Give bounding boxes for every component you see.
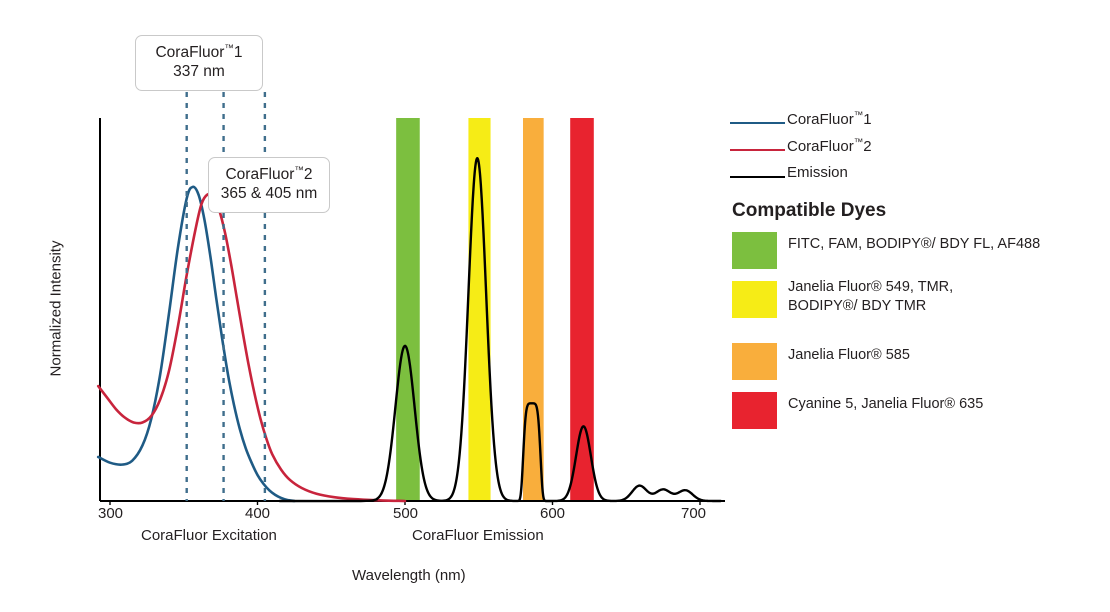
dye-label: Cyanine 5, Janelia Fluor® 635 bbox=[788, 395, 983, 414]
legend-line-swatch bbox=[730, 176, 785, 178]
legend-series-row: CoraFluor™1 bbox=[730, 110, 1090, 137]
legend-line-swatch bbox=[730, 149, 785, 151]
dye-label: FITC, FAM, BODIPY®/ BDY FL, AF488 bbox=[788, 235, 1040, 254]
dye-label: Janelia Fluor® 585 bbox=[788, 346, 910, 365]
excitation-section-label: CoraFluor Excitation bbox=[141, 527, 277, 544]
emission-section-label: CoraFluor Emission bbox=[412, 527, 544, 544]
curve-emission bbox=[280, 158, 721, 501]
compatible-dyes-title: Compatible Dyes bbox=[732, 200, 886, 222]
corafluor2-callout-line2: 365 & 405 nm bbox=[219, 185, 319, 204]
x-tick-600: 600 bbox=[540, 505, 565, 522]
corafluor1-callout-line2: 337 nm bbox=[146, 63, 252, 82]
x-axis-label: Wavelength (nm) bbox=[352, 567, 466, 584]
legend-series-label: CoraFluor™1 bbox=[787, 110, 872, 128]
series-legend: CoraFluor™1CoraFluor™2Emission bbox=[730, 110, 1090, 191]
dye-color-swatch bbox=[732, 343, 777, 380]
dye-color-swatch bbox=[732, 232, 777, 269]
dye-row: Janelia Fluor® 585 bbox=[730, 343, 1110, 392]
dye-row: FITC, FAM, BODIPY®/ BDY FL, AF488 bbox=[730, 232, 1110, 281]
legend-line-swatch bbox=[730, 122, 785, 124]
x-tick-700: 700 bbox=[681, 505, 706, 522]
corafluor2-callout: CoraFluor™2 365 & 405 nm bbox=[208, 157, 330, 213]
dye-row: Janelia Fluor® 549, TMR, BODIPY®/ BDY TM… bbox=[730, 281, 1110, 343]
compatible-dyes-list: FITC, FAM, BODIPY®/ BDY FL, AF488Janelia… bbox=[730, 232, 1110, 441]
dye-row: Cyanine 5, Janelia Fluor® 635 bbox=[730, 392, 1110, 441]
x-tick-300: 300 bbox=[98, 505, 123, 522]
dye-label: Janelia Fluor® 549, TMR, BODIPY®/ BDY TM… bbox=[788, 278, 953, 316]
y-axis-label: Normalized Intensity bbox=[47, 241, 64, 377]
legend-series-label: CoraFluor™2 bbox=[787, 137, 872, 155]
curve-corafluor2 bbox=[98, 194, 405, 501]
green-band bbox=[396, 118, 420, 501]
x-tick-500: 500 bbox=[393, 505, 418, 522]
corafluor1-callout: CoraFluor™1 337 nm bbox=[135, 35, 263, 91]
legend-series-label: Emission bbox=[787, 164, 848, 181]
curve-corafluor1 bbox=[98, 187, 294, 501]
corafluor2-callout-line1: CoraFluor™2 bbox=[219, 165, 319, 185]
dye-color-swatch bbox=[732, 392, 777, 429]
legend-series-row: CoraFluor™2 bbox=[730, 137, 1090, 164]
red-band bbox=[570, 118, 594, 501]
x-tick-400: 400 bbox=[245, 505, 270, 522]
dye-color-swatch bbox=[732, 281, 777, 318]
corafluor1-callout-line1: CoraFluor™1 bbox=[146, 43, 252, 63]
legend-panel: CoraFluor™1CoraFluor™2Emission Compatibl… bbox=[730, 0, 1110, 612]
legend-series-row: Emission bbox=[730, 164, 1090, 191]
